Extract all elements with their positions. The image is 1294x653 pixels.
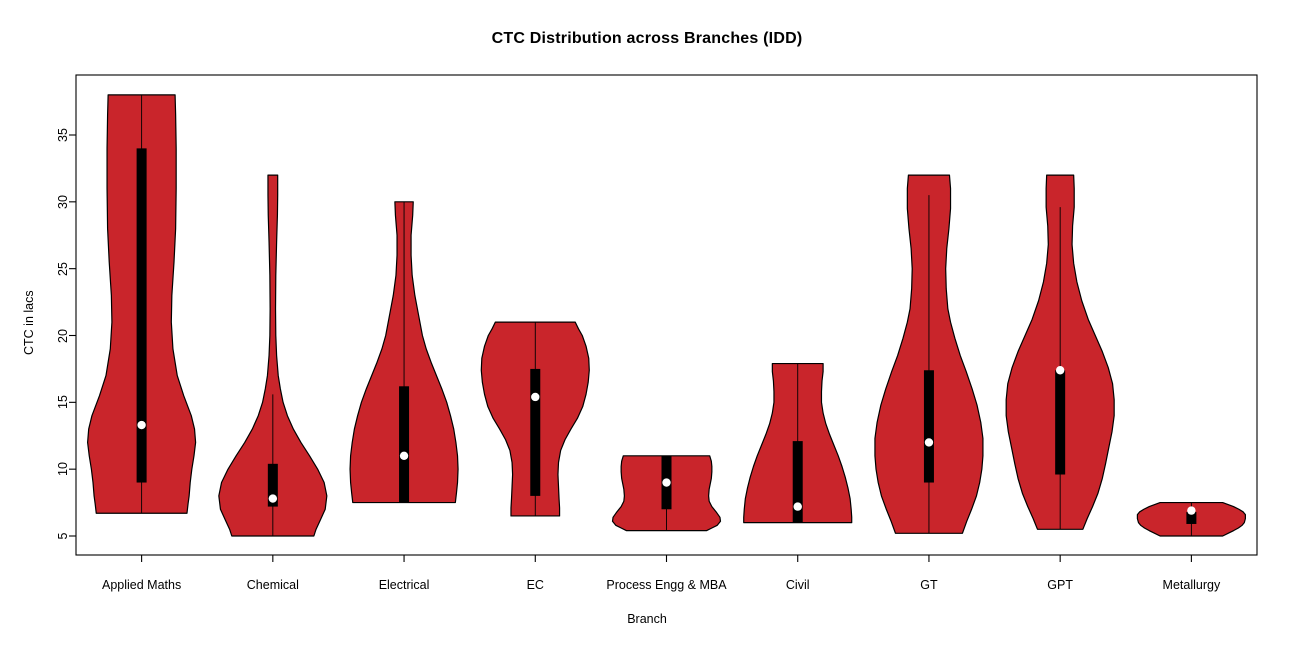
median-point [137,421,145,429]
y-tick-label: 35 [55,120,71,150]
plot-area [0,0,1294,653]
median-point [269,494,277,502]
y-tick-label: 10 [55,454,71,484]
iqr-box [530,369,540,496]
median-point [400,452,408,460]
median-point [1187,506,1195,514]
median-point [531,393,539,401]
median-point [1056,366,1064,374]
violin-chart: CTC Distribution across Branches (IDD) C… [0,0,1294,653]
y-tick-label: 25 [55,254,71,284]
y-tick-label: 5 [55,521,71,551]
y-tick-label: 15 [55,387,71,417]
y-tick-label: 20 [55,321,71,351]
iqr-box [399,386,409,502]
iqr-box [137,148,147,482]
median-point [662,478,670,486]
iqr-box [924,370,934,482]
iqr-box [1055,370,1065,474]
median-point [925,438,933,446]
y-tick-label: 30 [55,187,71,217]
x-tick-label: Metallurgy [1101,578,1281,592]
median-point [794,502,802,510]
